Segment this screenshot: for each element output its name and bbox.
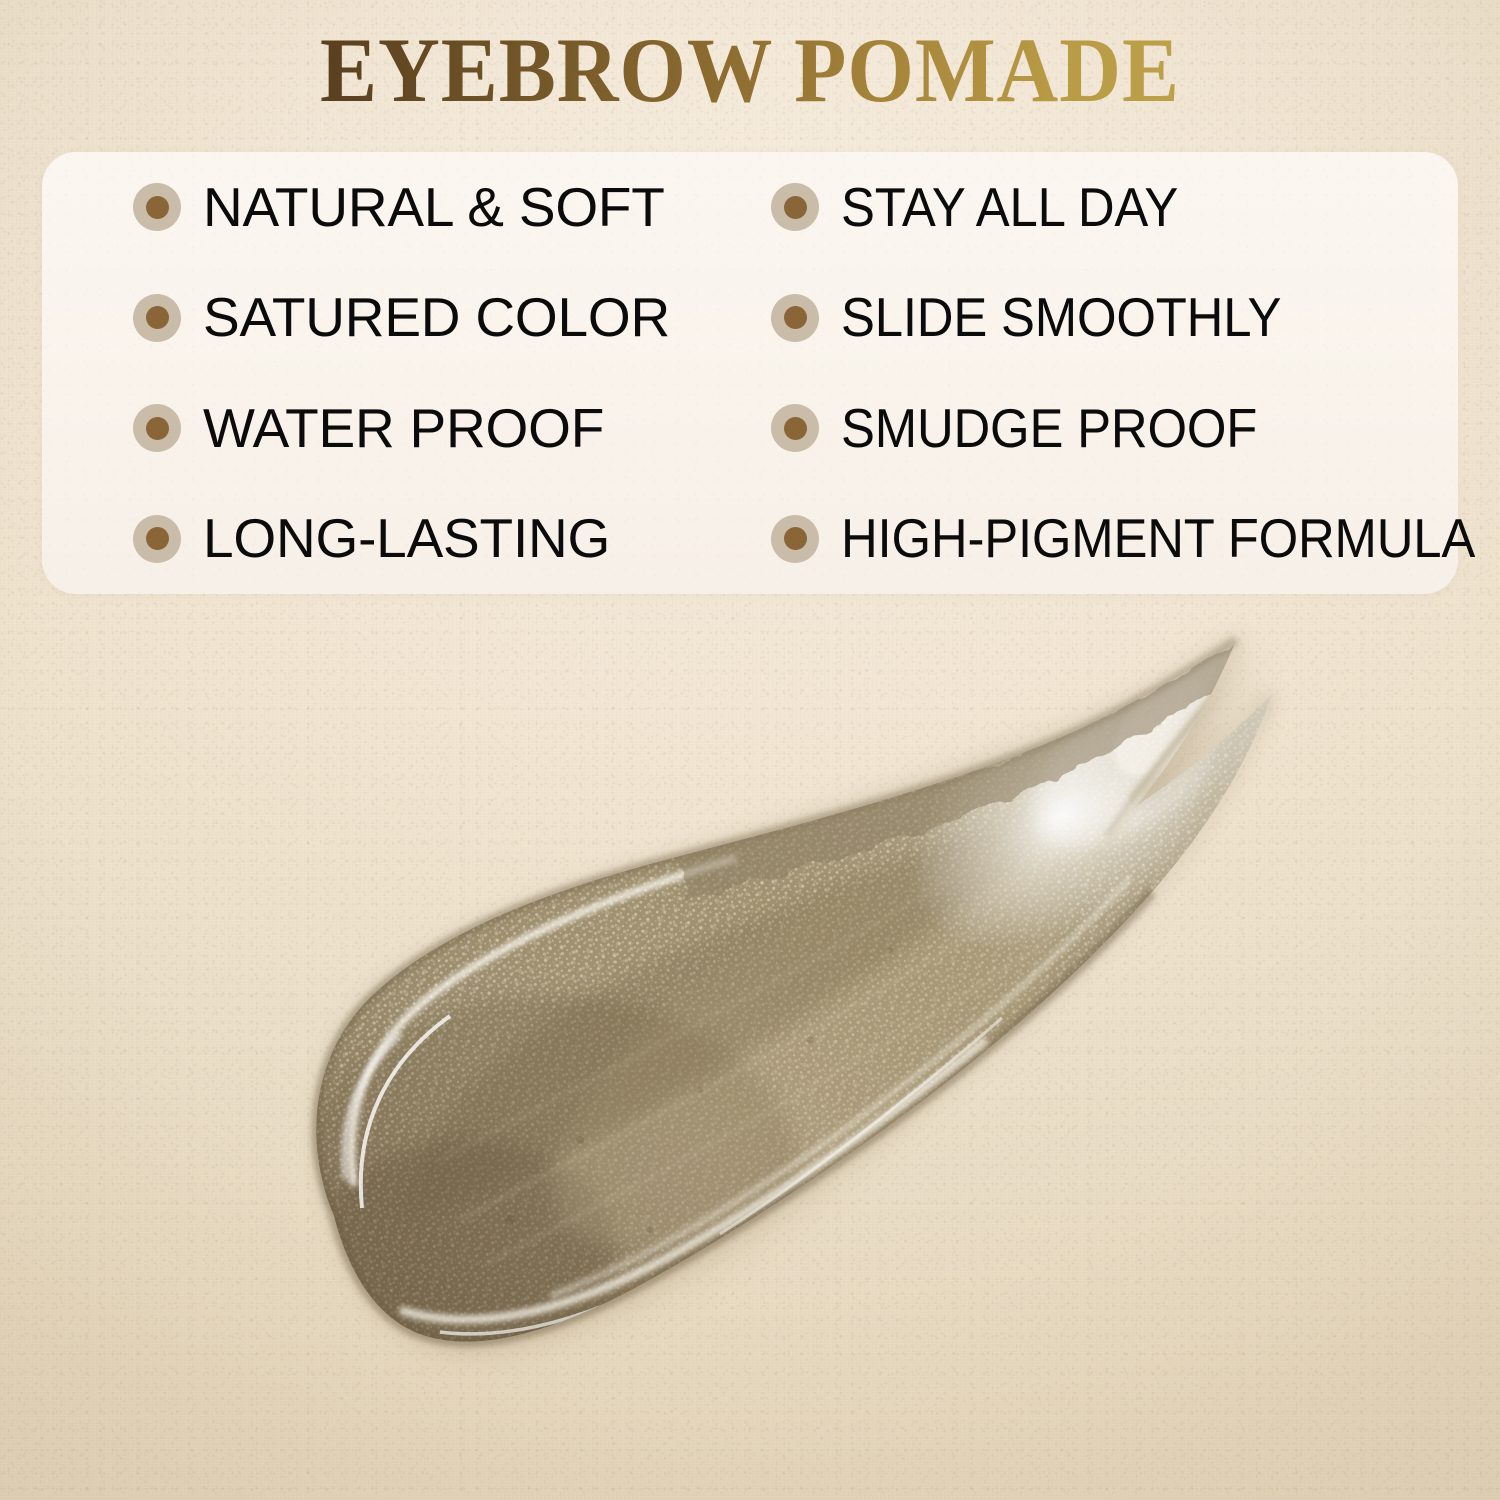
bullet-inner-dot [146,417,169,440]
bullet-inner-dot [784,306,807,329]
feature-label: NATURAL & SOFT [203,180,665,235]
bullet-inner-dot [784,527,807,550]
feature-label: STAY ALL DAY [841,180,1178,235]
bullet-inner-dot [784,417,807,440]
feature-label: SATURED COLOR [203,290,670,345]
feature-grid: NATURAL & SOFT STAY ALL DAY SATURED COLO… [42,152,1458,594]
bullet-point-icon [133,183,181,231]
bullet-inner-dot [146,527,169,550]
bullet-point-icon [771,515,819,563]
feature-label: LONG-LASTING [203,511,610,566]
feature-label: SLIDE SMOOTHLY [841,290,1281,345]
feature-item-smudge-proof: SMUDGE PROOF [720,401,1458,456]
feature-item-stay-all-day: STAY ALL DAY [720,180,1458,235]
product-swatch [250,620,1350,1480]
feature-item-natural-and-soft: NATURAL & SOFT [42,180,720,235]
pomade-smear-illustration [250,620,1350,1480]
bullet-point-icon [133,404,181,452]
feature-item-water-proof: WATER PROOF [42,401,720,456]
feature-item-high-pigment-formula: HIGH-PIGMENT FORMULA [720,511,1458,566]
bullet-inner-dot [146,196,169,219]
bullet-point-icon [133,515,181,563]
feature-label: HIGH-PIGMENT FORMULA [841,511,1475,566]
feature-label: SMUDGE PROOF [841,401,1257,456]
feature-label: WATER PROOF [203,401,604,456]
bullet-point-icon [771,404,819,452]
feature-item-slide-smoothly: SLIDE SMOOTHLY [720,290,1458,345]
feature-item-satured-color: SATURED COLOR [42,290,720,345]
product-feature-graphic: EYEBROW POMADE NATURAL & SOFT STAY ALL D… [0,0,1500,1500]
bullet-point-icon [771,294,819,342]
feature-list-card: NATURAL & SOFT STAY ALL DAY SATURED COLO… [42,152,1458,594]
bullet-inner-dot [146,306,169,329]
page-title: EYEBROW POMADE [53,24,1448,118]
feature-item-long-lasting: LONG-LASTING [42,511,720,566]
bullet-point-icon [133,294,181,342]
bullet-inner-dot [784,196,807,219]
bullet-point-icon [771,183,819,231]
